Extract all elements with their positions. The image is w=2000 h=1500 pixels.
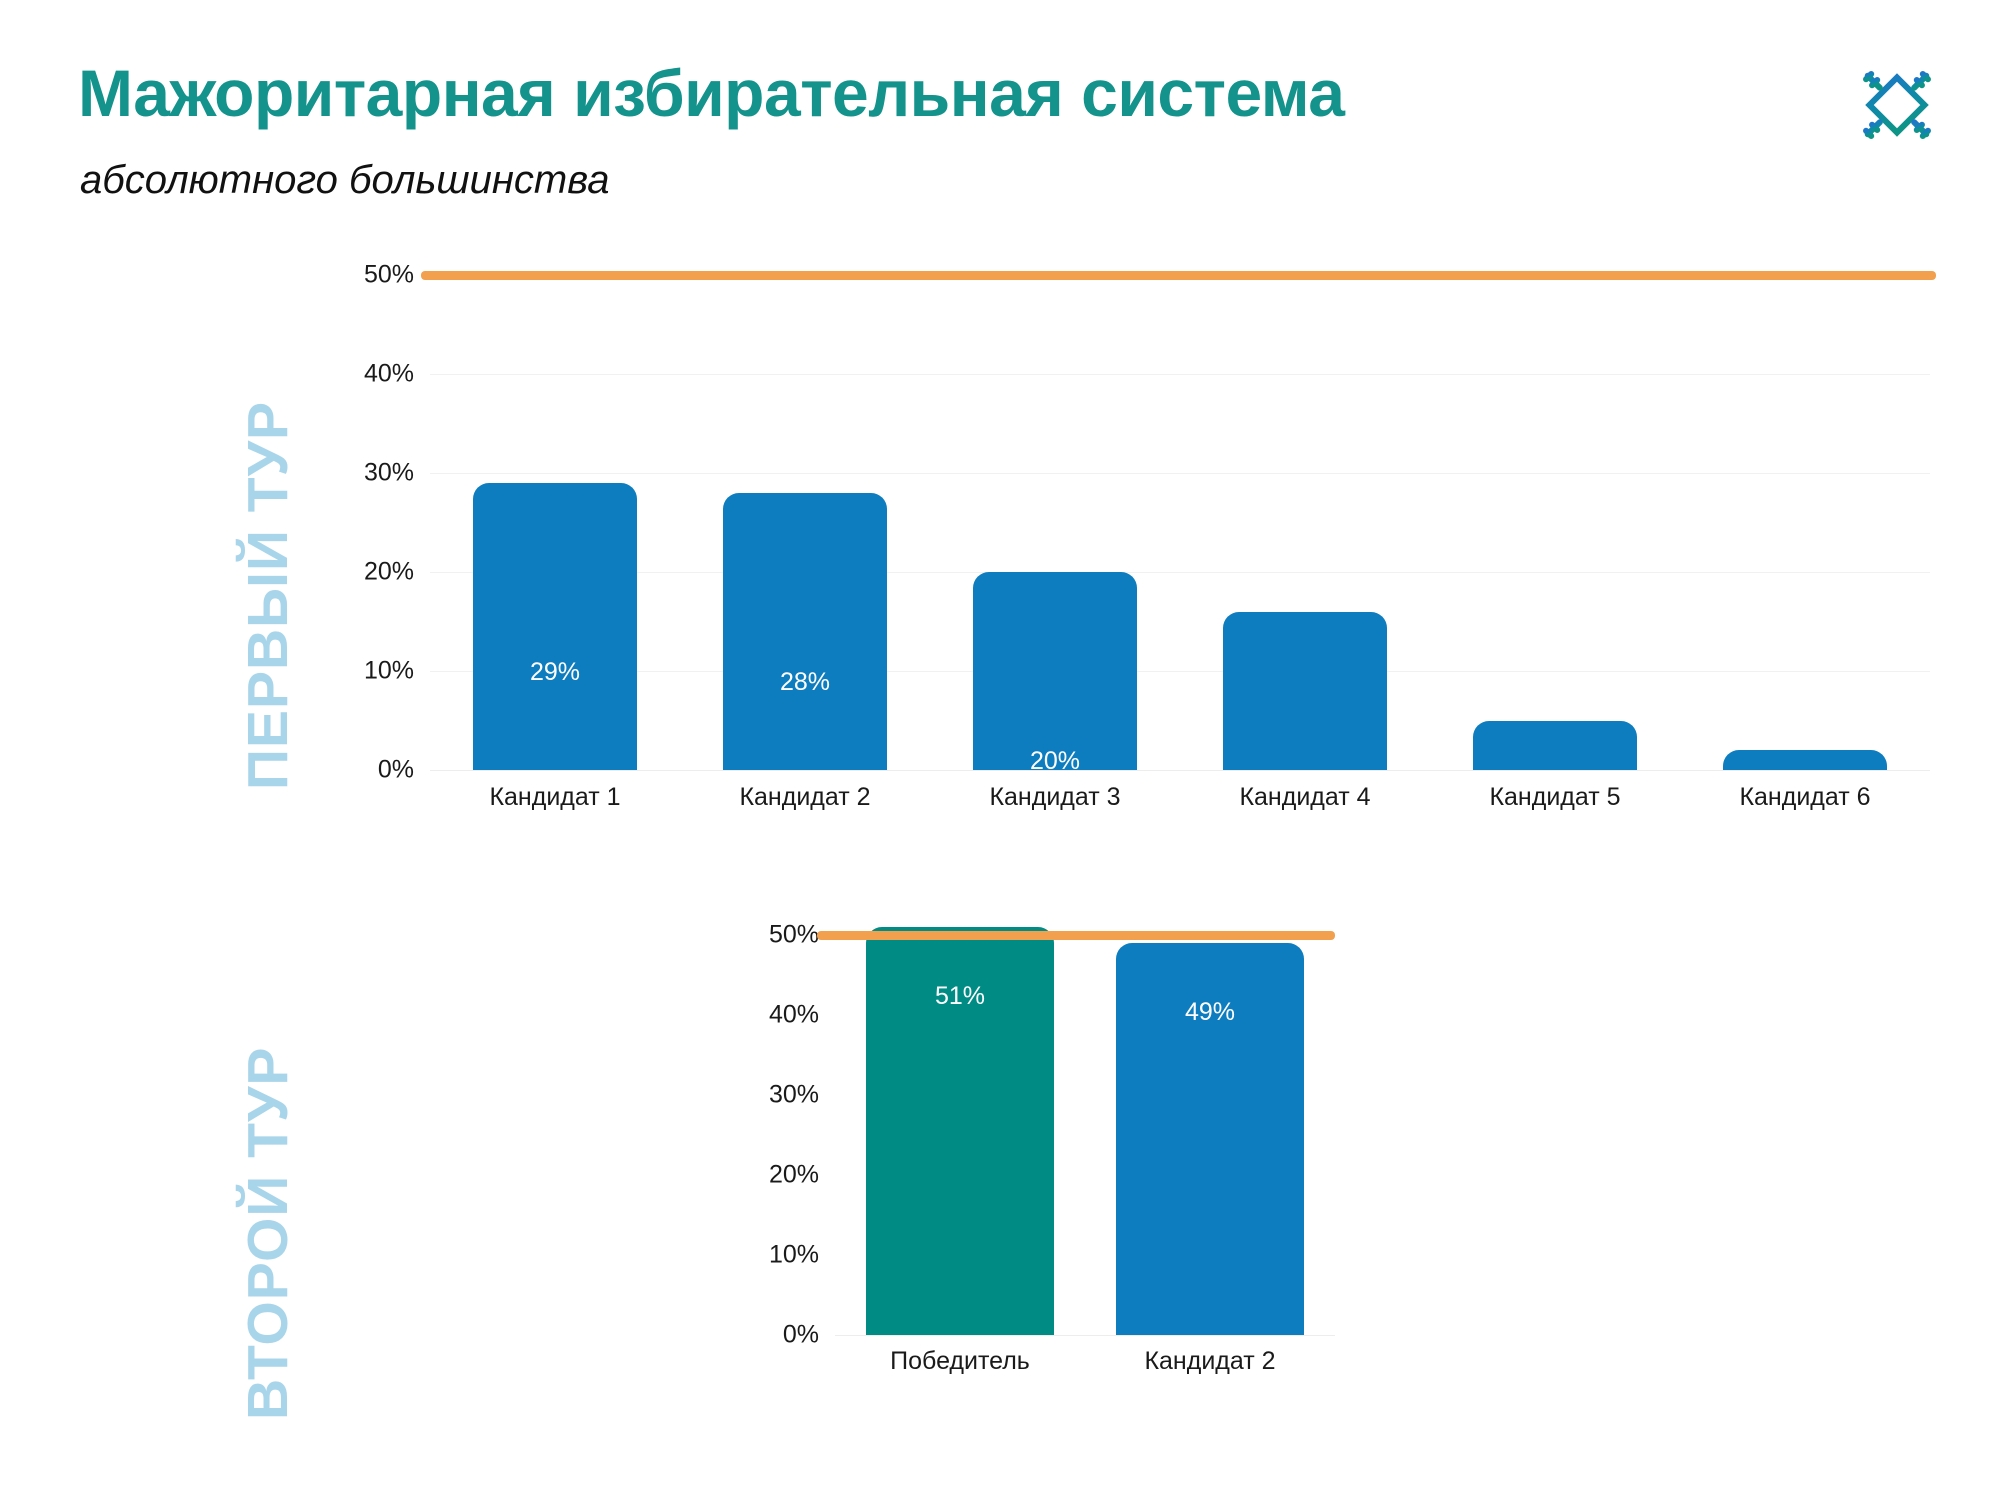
bar-value-label: 51% bbox=[866, 982, 1054, 1011]
x-axis-category-label: Кандидат 6 bbox=[1680, 783, 1930, 812]
y-axis-tick-label: 30% bbox=[364, 459, 430, 488]
bar[interactable] bbox=[723, 493, 887, 770]
bar[interactable] bbox=[1723, 750, 1887, 770]
bar-value-label: 29% bbox=[473, 658, 637, 687]
slide-header: Мажоритарная избирательная система абсол… bbox=[0, 0, 2000, 210]
x-axis-category-label: Кандидат 2 bbox=[680, 783, 930, 812]
page-subtitle: абсолютного большинства bbox=[80, 160, 609, 200]
x-axis-category-label: Победитель bbox=[835, 1347, 1085, 1376]
gridline bbox=[430, 671, 1930, 672]
round-two-side-label: ВТОРОЙ ТУР bbox=[235, 1047, 301, 1420]
y-axis-tick-label: 20% bbox=[769, 1161, 835, 1190]
y-axis-tick-label: 0% bbox=[783, 1321, 835, 1350]
y-axis-tick-label: 40% bbox=[364, 360, 430, 389]
bar-value-label: 20% bbox=[973, 747, 1137, 776]
x-axis-category-label: Кандидат 5 bbox=[1430, 783, 1680, 812]
bar-value-label: 5% bbox=[1473, 896, 1637, 925]
x-axis-category-label: Кандидат 3 bbox=[930, 783, 1180, 812]
gridline bbox=[430, 473, 1930, 474]
y-axis-tick-label: 10% bbox=[364, 657, 430, 686]
x-axis-category-label: Кандидат 4 bbox=[1180, 783, 1430, 812]
axis-baseline bbox=[430, 770, 1930, 771]
bar-value-label: 49% bbox=[1116, 998, 1304, 1027]
round-two-bar-chart: 0%10%20%30%40%50%51%Победитель49%Кандида… bbox=[835, 935, 1335, 1335]
bar[interactable] bbox=[1473, 721, 1637, 771]
y-axis-tick-label: 10% bbox=[769, 1241, 835, 1270]
bar-value-label: 28% bbox=[723, 668, 887, 697]
gridline bbox=[430, 572, 1930, 573]
bar[interactable] bbox=[1223, 612, 1387, 770]
bar[interactable] bbox=[473, 483, 637, 770]
majority-threshold-line bbox=[421, 271, 1936, 280]
y-axis-tick-label: 0% bbox=[378, 756, 430, 785]
axis-baseline bbox=[835, 1335, 1335, 1336]
bar[interactable] bbox=[973, 572, 1137, 770]
y-axis-tick-label: 20% bbox=[364, 558, 430, 587]
gridline bbox=[430, 374, 1930, 375]
round-one-bar-chart: 0%10%20%30%40%50%29%Кандидат 128%Кандида… bbox=[430, 275, 1930, 770]
y-axis-tick-label: 40% bbox=[769, 1001, 835, 1030]
x-axis-category-label: Кандидат 1 bbox=[430, 783, 680, 812]
round-one-side-label: ПЕРВЫЙ ТУР bbox=[235, 401, 301, 790]
majority-threshold-line bbox=[817, 931, 1335, 940]
page-title: Мажоритарная избирательная система bbox=[78, 60, 1344, 126]
ornamental-diamond-logo-icon bbox=[1854, 62, 1940, 148]
x-axis-category-label: Кандидат 2 bbox=[1085, 1347, 1335, 1376]
y-axis-tick-label: 30% bbox=[769, 1081, 835, 1110]
